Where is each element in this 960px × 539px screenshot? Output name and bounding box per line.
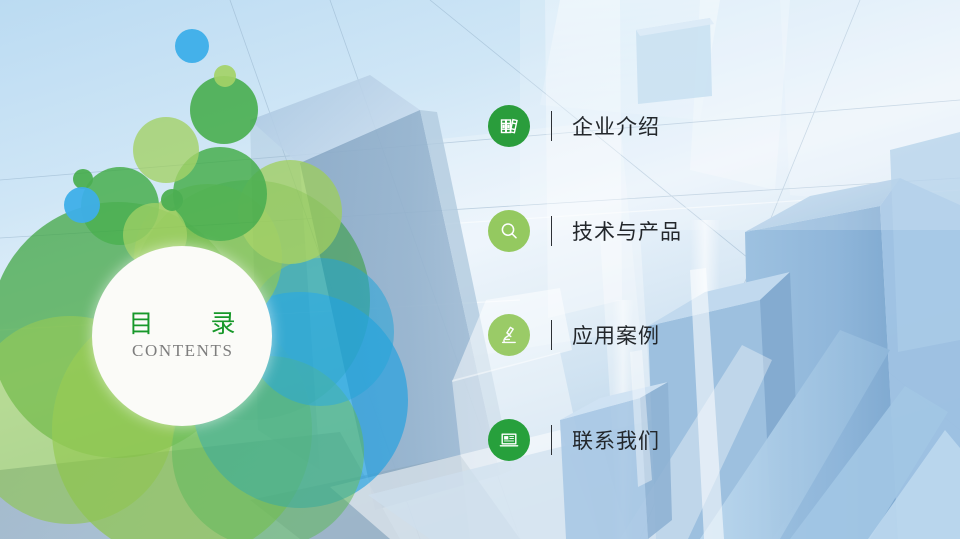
menu-item-label: 应用案例: [572, 320, 660, 350]
menu-item-technology-products[interactable]: 技术与产品: [488, 205, 682, 257]
contents-menu: 企业介绍 技术与产品: [0, 0, 960, 539]
laptop-icon: [488, 419, 530, 461]
contents-slide: 目 录 CONTENTS: [0, 0, 960, 539]
menu-divider: [551, 111, 552, 141]
menu-item-label: 技术与产品: [572, 216, 682, 246]
menu-divider: [551, 320, 552, 350]
menu-item-label: 联系我们: [572, 425, 660, 455]
menu-item-application-cases[interactable]: 应用案例: [488, 309, 660, 361]
menu-divider: [551, 216, 552, 246]
magnifier-icon: [488, 210, 530, 252]
menu-item-company-intro[interactable]: 企业介绍: [488, 100, 660, 152]
microscope-icon: [488, 314, 530, 356]
menu-divider: [551, 425, 552, 455]
binders-icon: [488, 105, 530, 147]
menu-item-label: 企业介绍: [572, 111, 660, 141]
menu-item-contact-us[interactable]: 联系我们: [488, 414, 660, 466]
